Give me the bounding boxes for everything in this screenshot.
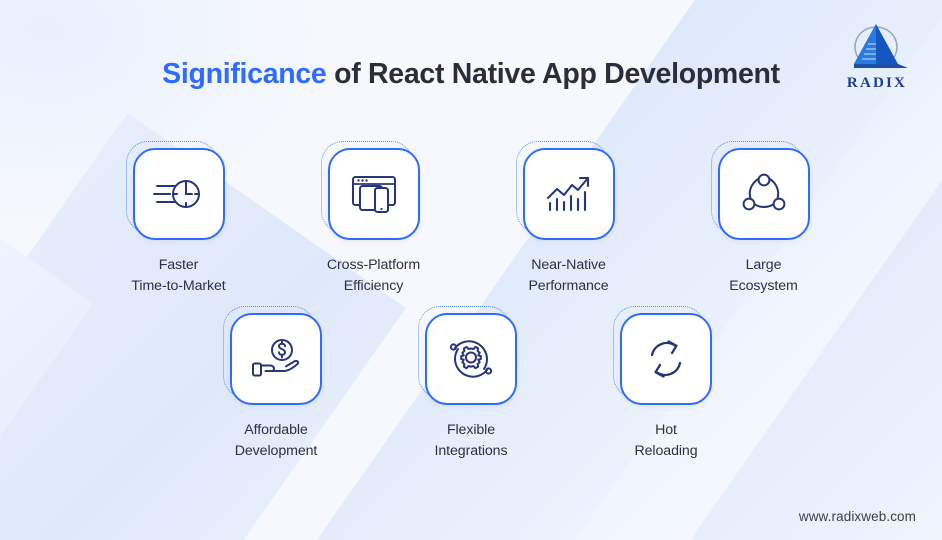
speed-clock-icon: [153, 173, 205, 215]
feature-label: Flexible Integrations: [435, 420, 508, 461]
page-title: Significance of React Native App Develop…: [0, 58, 942, 91]
network-nodes-icon: [741, 172, 787, 216]
feature-tile: [230, 313, 322, 405]
feature-label: Near-Native Performance: [528, 255, 608, 296]
tile-card: [718, 148, 810, 240]
multi-device-screens-icon: [349, 172, 399, 216]
feature-tile: [328, 148, 420, 240]
feature-label: Faster Time-to-Market: [131, 255, 225, 296]
page-title-accent: Significance: [162, 58, 326, 90]
feature-tile: [425, 313, 517, 405]
feature-tile: [133, 148, 225, 240]
refresh-arrows-icon: [643, 336, 689, 382]
header: Significance of React Native App Develop…: [0, 0, 942, 130]
feature-item-affordable-development[interactable]: Affordable Development: [220, 313, 333, 461]
feature-label: Large Ecosystem: [729, 255, 797, 296]
tile-card: [230, 313, 322, 405]
infographic-canvas: Significance of React Native App Develop…: [0, 0, 942, 540]
pyramid-ring-logo-icon: [842, 22, 910, 70]
page-title-rest: of React Native App Development: [326, 58, 779, 90]
tile-card: [620, 313, 712, 405]
logo-wordmark: RADIX: [834, 75, 920, 92]
feature-item-faster-time-to-market[interactable]: Faster Time-to-Market: [122, 148, 235, 296]
feature-item-hot-reloading[interactable]: Hot Reloading: [610, 313, 723, 461]
feature-item-large-ecosystem[interactable]: Large Ecosystem: [707, 148, 820, 296]
brand-logo: RADIX: [834, 22, 920, 90]
feature-tile: [718, 148, 810, 240]
tile-card: [133, 148, 225, 240]
hand-holding-dollar-icon: [250, 338, 302, 380]
feature-item-flexible-integrations[interactable]: Flexible Integrations: [415, 313, 528, 461]
feature-item-near-native-performance[interactable]: Near-Native Performance: [512, 148, 625, 296]
tile-card: [425, 313, 517, 405]
growth-chart-arrow-icon: [544, 172, 594, 216]
feature-item-cross-platform-efficiency[interactable]: Cross-Platform Efficiency: [317, 148, 430, 296]
feature-tile: [523, 148, 615, 240]
gear-orbit-icon: [446, 336, 496, 382]
feature-label: Cross-Platform Efficiency: [327, 255, 420, 296]
feature-row-top: Faster Time-to-Market: [0, 148, 942, 296]
tile-card: [328, 148, 420, 240]
feature-label: Hot Reloading: [635, 420, 698, 461]
feature-label: Affordable Development: [235, 420, 318, 461]
tile-card: [523, 148, 615, 240]
feature-row-bottom: Affordable Development: [0, 313, 942, 461]
footer-website-url[interactable]: www.radixweb.com: [799, 509, 916, 524]
feature-tile: [620, 313, 712, 405]
